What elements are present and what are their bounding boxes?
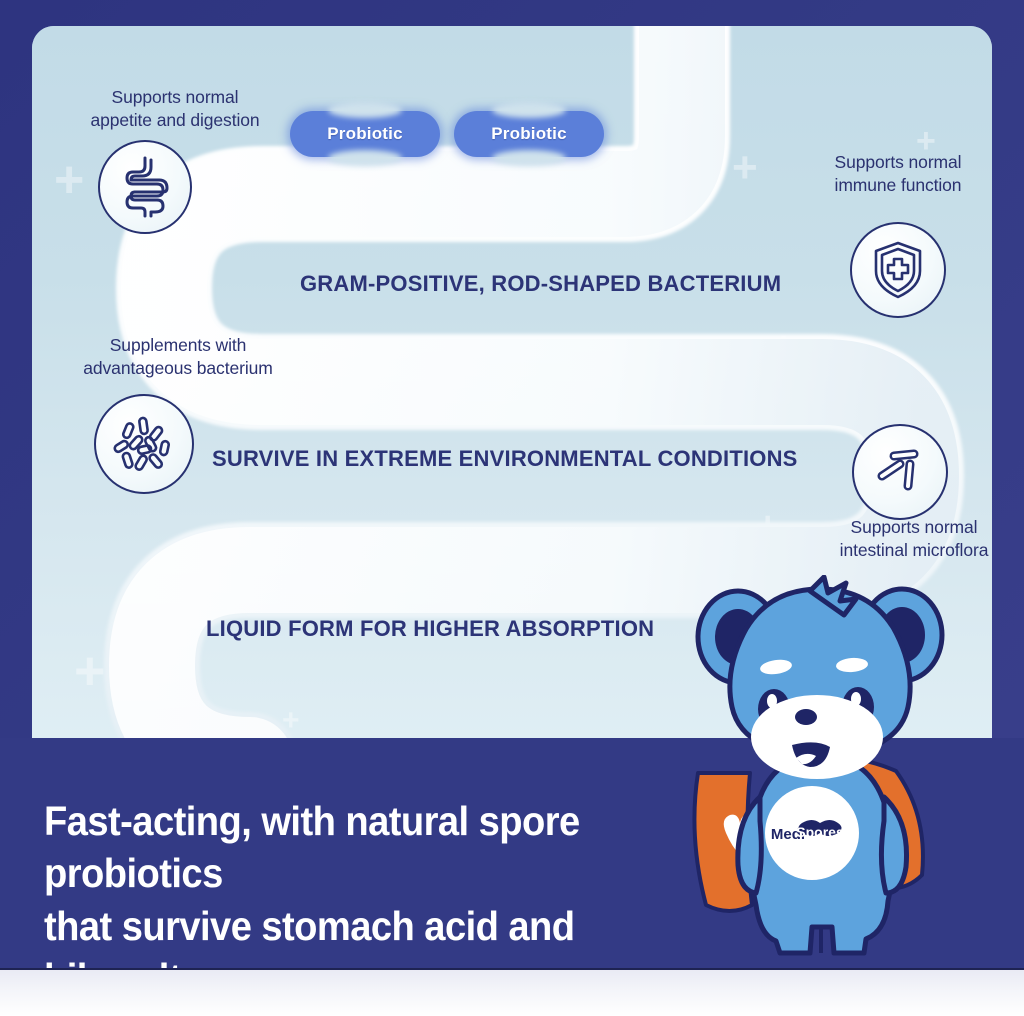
bear-muzzle xyxy=(751,695,883,779)
caption-line: immune function xyxy=(835,175,962,195)
infographic-canvas: + + + + + + + + + + xyxy=(0,0,1024,1016)
caption-supplements: Supplements with advantageous bacterium xyxy=(32,334,324,380)
bacteria-cluster-icon xyxy=(94,394,194,494)
caption-line: Supplements with xyxy=(110,335,247,355)
capsule-pinch-bottom xyxy=(328,150,402,166)
shield-glyph xyxy=(868,239,928,301)
caption-line: appetite and digestion xyxy=(90,110,259,130)
tagline-line-1: Fast-acting, with natural spore probioti… xyxy=(44,795,639,900)
caption-immune: Supports normal immune function xyxy=(778,151,992,197)
caption-line: advantageous bacterium xyxy=(83,358,272,378)
bacteria-rods-icon xyxy=(852,424,948,520)
bacteria-rods-glyph xyxy=(870,442,930,502)
caption-microflora: Supports normal intestinal microflora xyxy=(792,516,992,562)
probiotic-capsule: Probiotic xyxy=(290,111,440,157)
caption-line: Supports normal xyxy=(835,152,962,172)
bear-nose xyxy=(795,709,817,725)
capsule-label: Probiotic xyxy=(327,124,402,144)
medispores-bear-mascot: Medi Spores xyxy=(660,575,980,965)
bottom-strip xyxy=(0,968,1024,1016)
capsule-pinch-top xyxy=(328,102,402,118)
headline-survive: SURVIVE IN EXTREME ENVIRONMENTAL CONDITI… xyxy=(212,446,798,472)
probiotic-capsule: Probiotic xyxy=(454,111,604,157)
capsule-pinch-bottom xyxy=(492,150,566,166)
caption-line: Supports normal xyxy=(851,517,978,537)
capsule-label: Probiotic xyxy=(491,124,566,144)
intestine-icon xyxy=(98,140,192,234)
bacteria-cluster-glyph xyxy=(109,409,179,479)
caption-appetite: Supports normal appetite and digestion xyxy=(40,86,310,132)
caption-line: intestinal microflora xyxy=(840,540,989,560)
headline-liquid-form: LIQUID FORM FOR HIGHER ABSORPTION xyxy=(206,616,654,642)
intestine-glyph xyxy=(115,154,175,220)
caption-line: Supports normal xyxy=(112,87,239,107)
headline-gram-positive: GRAM-POSITIVE, ROD-SHAPED BACTERIUM xyxy=(300,271,781,297)
badge-brand-second: Spores xyxy=(796,824,844,840)
shield-cross-icon xyxy=(850,222,946,318)
capsule-pinch-top xyxy=(492,102,566,118)
